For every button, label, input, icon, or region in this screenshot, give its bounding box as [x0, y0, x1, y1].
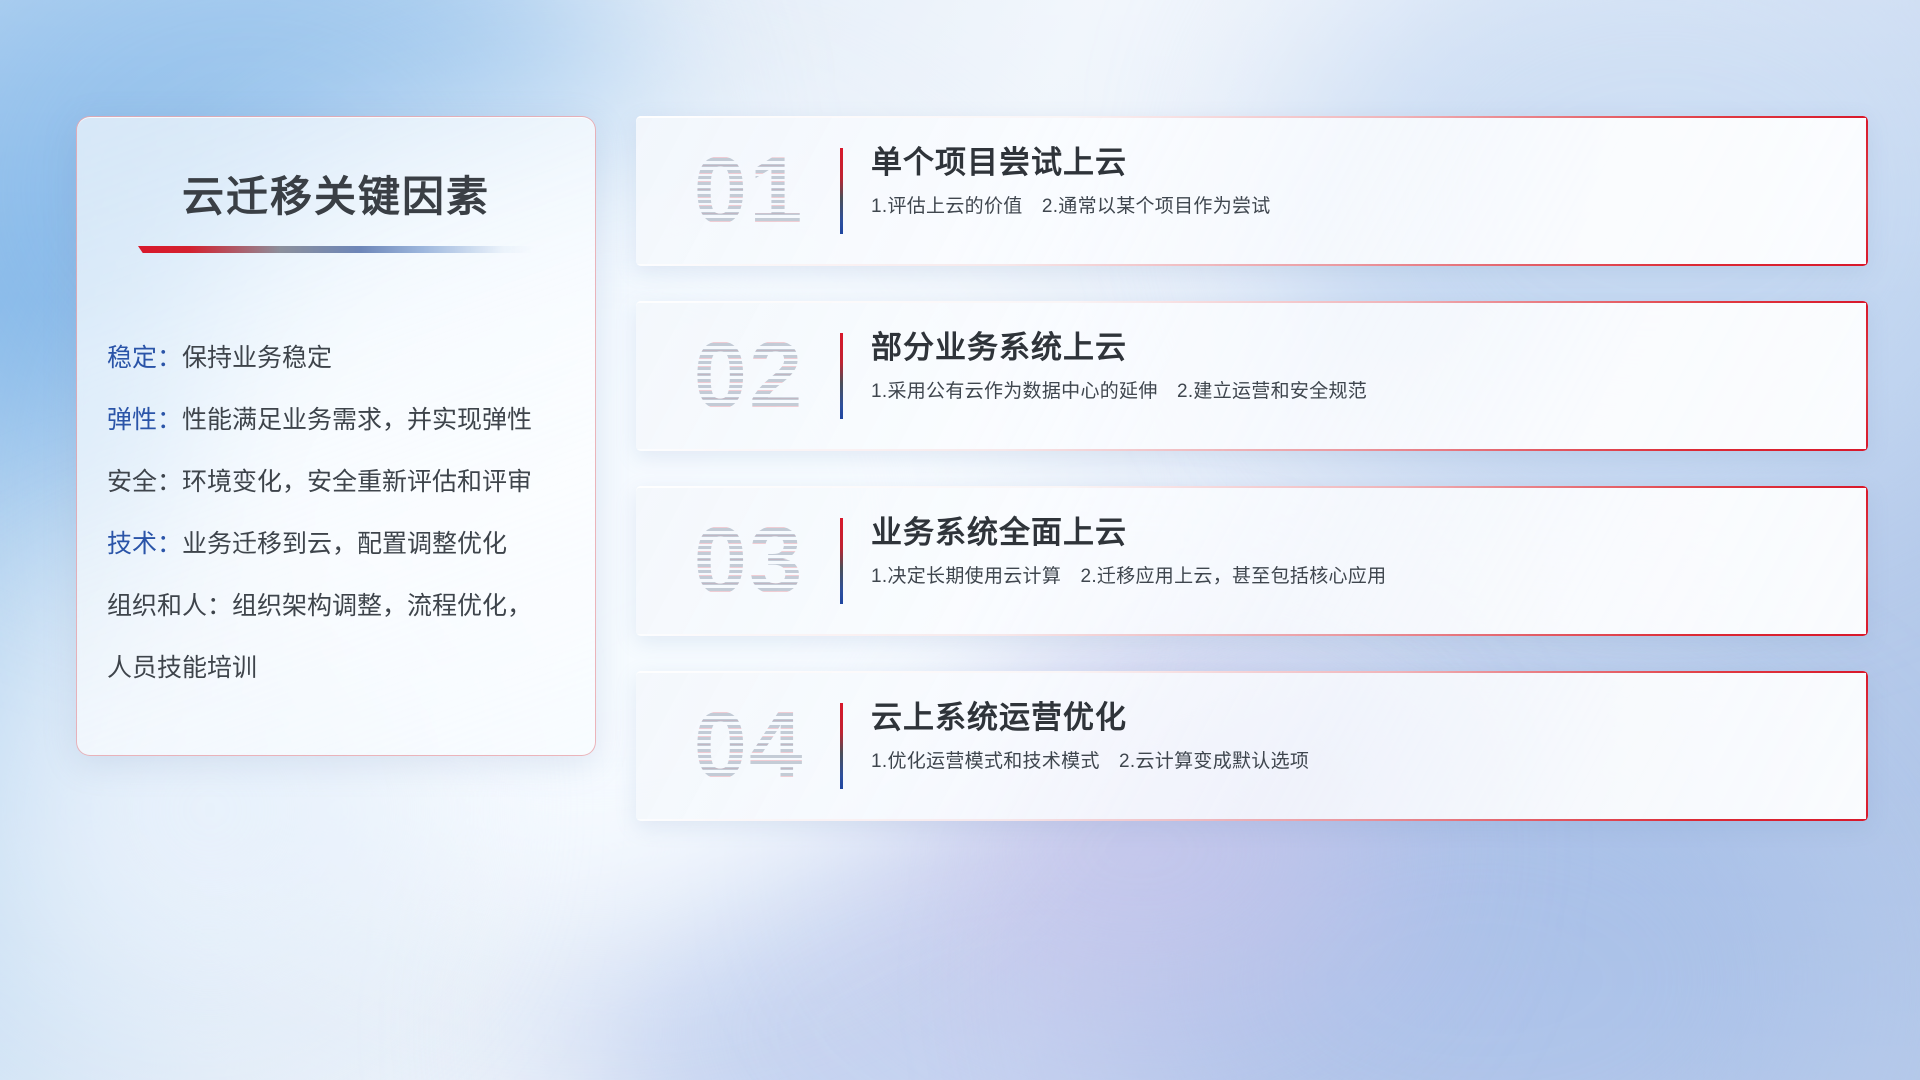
- key-factors-panel: 云迁移关键因素 稳定：保持业务稳定弹性：性能满足业务需求，并实现弹性安全：环境变…: [76, 116, 596, 756]
- card-divider-bar: [840, 703, 843, 789]
- key-factor-label: 组织和人：: [107, 592, 232, 620]
- key-factor-text: 人员技能培训: [107, 654, 257, 682]
- card-accent-edge: [1866, 486, 1868, 636]
- page-title: 云迁移关键因素: [77, 163, 595, 224]
- card-text-block: 云上系统运营优化1.优化运营模式和技术模式 2.云计算变成默认选项: [871, 695, 1840, 776]
- key-factor-label: 稳定：: [107, 344, 182, 372]
- key-factor-text: 环境变化，安全重新评估和评审: [182, 468, 532, 496]
- stage-number: 03: [664, 504, 834, 618]
- stage-number: 01: [664, 134, 834, 248]
- key-factor-row: 组织和人：组织架构调整，流程优化，: [107, 575, 595, 637]
- key-factor-row: 安全：环境变化，安全重新评估和评审: [107, 451, 595, 513]
- key-factor-text: 保持业务稳定: [182, 344, 332, 372]
- stage-card[interactable]: 0202部分业务系统上云1.采用公有云作为数据中心的延伸 2.建立运营和安全规范: [636, 301, 1868, 451]
- stage-number: 02: [664, 319, 834, 433]
- card-description: 1.决定长期使用云计算 2.迁移应用上云，甚至包括核心应用: [871, 563, 1840, 591]
- key-factor-row: 技术：业务迁移到云，配置调整优化: [107, 513, 595, 575]
- key-factor-label: 技术：: [107, 530, 182, 558]
- card-accent-edge: [1866, 116, 1868, 266]
- card-accent-edge: [1866, 671, 1868, 821]
- stage-card[interactable]: 0303业务系统全面上云1.决定长期使用云计算 2.迁移应用上云，甚至包括核心应…: [636, 486, 1868, 636]
- stage-number: 04: [664, 689, 834, 803]
- card-text-block: 部分业务系统上云1.采用公有云作为数据中心的延伸 2.建立运营和安全规范: [871, 325, 1840, 406]
- key-factor-text: 组织架构调整，流程优化，: [232, 592, 532, 620]
- card-description: 1.优化运营模式和技术模式 2.云计算变成默认选项: [871, 748, 1840, 776]
- card-text-block: 业务系统全面上云1.决定长期使用云计算 2.迁移应用上云，甚至包括核心应用: [871, 510, 1840, 591]
- card-description: 1.采用公有云作为数据中心的延伸 2.建立运营和安全规范: [871, 378, 1840, 406]
- key-factor-row: 稳定：保持业务稳定: [107, 327, 595, 389]
- key-factor-text: 性能满足业务需求，并实现弹性: [182, 406, 532, 434]
- card-title: 部分业务系统上云: [871, 325, 1840, 371]
- card-title: 单个项目尝试上云: [871, 140, 1840, 186]
- card-divider-bar: [840, 333, 843, 419]
- key-factor-row: 人员技能培训: [107, 637, 595, 699]
- key-factor-label: 安全：: [107, 468, 182, 496]
- key-factors-list: 稳定：保持业务稳定弹性：性能满足业务需求，并实现弹性安全：环境变化，安全重新评估…: [107, 327, 595, 699]
- key-factor-text: 业务迁移到云，配置调整优化: [182, 530, 507, 558]
- card-title: 业务系统全面上云: [871, 510, 1840, 556]
- card-title: 云上系统运营优化: [871, 695, 1840, 741]
- title-underline-rule: [138, 246, 534, 253]
- card-divider-bar: [840, 518, 843, 604]
- key-factor-label: 弹性：: [107, 406, 182, 434]
- card-divider-bar: [840, 148, 843, 234]
- migration-stage-cards: 0101单个项目尝试上云1.评估上云的价值 2.通常以某个项目作为尝试0202部…: [636, 116, 1868, 856]
- stage-card[interactable]: 0404云上系统运营优化1.优化运营模式和技术模式 2.云计算变成默认选项: [636, 671, 1868, 821]
- stage-card[interactable]: 0101单个项目尝试上云1.评估上云的价值 2.通常以某个项目作为尝试: [636, 116, 1868, 266]
- card-description: 1.评估上云的价值 2.通常以某个项目作为尝试: [871, 193, 1840, 221]
- card-accent-edge: [1866, 301, 1868, 451]
- key-factor-row: 弹性：性能满足业务需求，并实现弹性: [107, 389, 595, 451]
- card-text-block: 单个项目尝试上云1.评估上云的价值 2.通常以某个项目作为尝试: [871, 140, 1840, 221]
